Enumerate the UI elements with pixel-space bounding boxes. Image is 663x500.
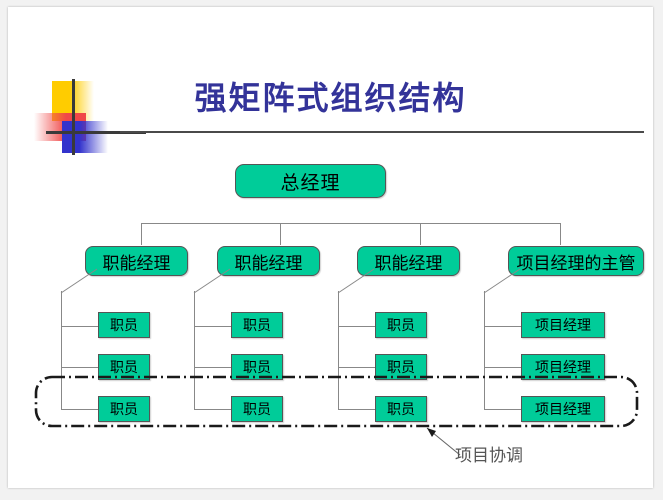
connector-diagonal-col-2 bbox=[194, 269, 230, 293]
connector-top-bus bbox=[141, 223, 560, 224]
slide-canvas: 强矩阵式组织结构 总经理 职能经理 职能经理 职能经理 项目经理的主管 bbox=[8, 7, 653, 488]
org-node-label: 职能经理 bbox=[375, 249, 443, 274]
connector-branch-col-2-row-1 bbox=[194, 326, 232, 327]
connector-branch-col-4-row-1 bbox=[484, 326, 522, 327]
connector-drop-col-4 bbox=[560, 223, 561, 245]
annotation-label-project-coordination: 项目协调 bbox=[455, 441, 523, 466]
connector-branch-col-2-row-2 bbox=[194, 367, 232, 368]
org-node-label: 职员 bbox=[243, 315, 271, 335]
page-title: 强矩阵式组织结构 bbox=[8, 73, 653, 119]
org-node-label: 总经理 bbox=[280, 168, 340, 195]
connector-drop-col-1 bbox=[141, 223, 142, 245]
connector-diagonal-col-1 bbox=[61, 269, 97, 293]
title-underline-rule bbox=[120, 131, 644, 133]
org-node-label: 项目经理 bbox=[535, 357, 591, 377]
org-node-functional-manager-2[interactable]: 职能经理 bbox=[217, 246, 320, 276]
connector-branch-col-3-row-2 bbox=[338, 367, 376, 368]
connector-drop-col-2 bbox=[280, 223, 281, 245]
project-coordination-region bbox=[34, 375, 640, 429]
logo-blue-square bbox=[62, 121, 108, 153]
org-node-label: 职员 bbox=[110, 357, 138, 377]
org-node-label: 职员 bbox=[110, 315, 138, 335]
org-node-staff-c1-r1[interactable]: 职员 bbox=[98, 312, 150, 338]
connector-diagonal-col-4 bbox=[484, 269, 520, 293]
org-node-project-manager-c4-r1[interactable]: 项目经理 bbox=[521, 312, 605, 338]
connector-branch-col-1-row-2 bbox=[61, 367, 99, 368]
org-node-label: 职员 bbox=[387, 315, 415, 335]
org-node-staff-c2-r1[interactable]: 职员 bbox=[231, 312, 283, 338]
connector-diagonal-col-3 bbox=[338, 269, 374, 293]
org-node-label: 项目经理的主管 bbox=[517, 249, 636, 274]
connector-branch-col-3-row-1 bbox=[338, 326, 376, 327]
org-node-functional-manager-1[interactable]: 职能经理 bbox=[85, 246, 188, 276]
org-node-label: 职员 bbox=[243, 357, 271, 377]
org-node-label: 职能经理 bbox=[103, 249, 171, 274]
org-node-general-manager[interactable]: 总经理 bbox=[235, 164, 386, 198]
connector-drop-col-3 bbox=[420, 223, 421, 245]
org-node-project-manager-supervisor[interactable]: 项目经理的主管 bbox=[508, 246, 644, 276]
slide-frame: 强矩阵式组织结构 总经理 职能经理 职能经理 职能经理 项目经理的主管 bbox=[0, 0, 663, 500]
org-node-label: 项目经理 bbox=[535, 315, 591, 335]
org-node-label: 职能经理 bbox=[235, 249, 303, 274]
connector-branch-col-4-row-2 bbox=[484, 367, 522, 368]
org-node-staff-c3-r1[interactable]: 职员 bbox=[375, 312, 427, 338]
connector-branch-col-1-row-1 bbox=[61, 326, 99, 327]
org-node-label: 职员 bbox=[387, 357, 415, 377]
